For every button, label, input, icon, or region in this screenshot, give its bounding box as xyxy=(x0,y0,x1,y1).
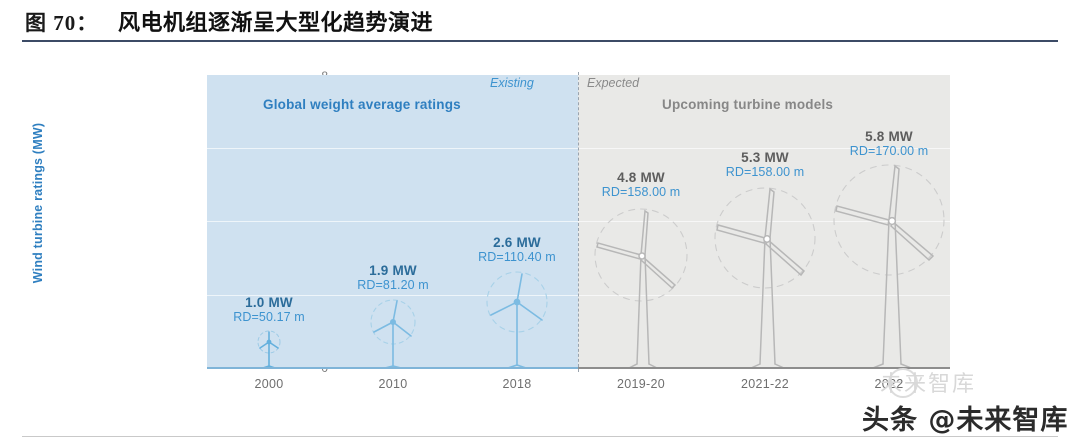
turbine-group-2019-20: 4.8 MW RD=158.00 m xyxy=(579,170,703,368)
x-axis-line-existing xyxy=(207,367,578,369)
footer-divider xyxy=(22,436,1058,437)
turbine-rating-2000: 1.0 MW xyxy=(207,295,331,311)
turbine-rotor-2018: RD=110.40 m xyxy=(455,250,579,266)
zone-heading-existing: Global weight average ratings xyxy=(263,97,461,112)
turbine-group-2022: 5.8 MW RD=170.00 m xyxy=(827,129,951,368)
wind-turbine-icon-2018 xyxy=(455,268,579,368)
turbine-rotor-2010: RD=81.20 m xyxy=(331,278,455,294)
wind-turbine-icon-2019-20 xyxy=(579,203,703,368)
wind-turbine-icon-2010 xyxy=(331,296,455,368)
wind-turbine-icon-2021-22 xyxy=(703,183,827,368)
turbine-rotor-2022: RD=170.00 m xyxy=(827,144,951,160)
turbine-group-2000: 1.0 MW RD=50.17 m xyxy=(207,295,331,368)
plot-area: Global weight average ratings Upcoming t… xyxy=(207,75,950,368)
watermark-main: 头条 @未来智库 xyxy=(862,398,1068,437)
turbine-rotor-2019-20: RD=158.00 m xyxy=(579,185,703,201)
turbine-rotor-2000: RD=50.17 m xyxy=(207,310,331,326)
x-tick-2021-22: 2021-22 xyxy=(705,377,825,391)
turbine-rotor-2021-22: RD=158.00 m xyxy=(703,165,827,181)
x-tick-2018: 2018 xyxy=(457,377,577,391)
x-tick-2000: 2000 xyxy=(209,377,329,391)
turbine-rating-2019-20: 4.8 MW xyxy=(579,170,703,186)
figure-title: 风电机组逐渐呈大型化趋势演进 xyxy=(118,5,433,37)
header-divider xyxy=(22,40,1058,42)
watermark-faint: 未来智库 xyxy=(880,366,976,398)
turbine-group-2010: 1.9 MW RD=81.20 m xyxy=(331,263,455,368)
zone-heading-expected: Upcoming turbine models xyxy=(662,97,833,112)
turbine-rating-2022: 5.8 MW xyxy=(827,129,951,145)
figure-number: 图 70： xyxy=(25,7,98,37)
turbine-rating-2021-22: 5.3 MW xyxy=(703,150,827,166)
x-tick-2010: 2010 xyxy=(333,377,453,391)
turbine-group-2021-22: 5.3 MW RD=158.00 m xyxy=(703,150,827,368)
wind-turbine-icon-2022 xyxy=(827,162,951,368)
x-tick-2019-20: 2019-20 xyxy=(581,377,701,391)
wind-turbine-icon-2000 xyxy=(207,328,331,368)
zone-flag-existing: Existing xyxy=(490,76,534,90)
y-axis-title: Wind turbine ratings (MW) xyxy=(31,93,45,313)
zone-flag-expected: Expected xyxy=(587,76,639,90)
chart-container: Wind turbine ratings (MW) 8 6 4 2 0 Glob… xyxy=(0,48,1080,413)
turbine-rating-2010: 1.9 MW xyxy=(331,263,455,279)
figure-header: 图 70： 风电机组逐渐呈大型化趋势演进 xyxy=(0,0,1080,44)
turbine-rating-2018: 2.6 MW xyxy=(455,235,579,251)
turbine-group-2018: 2.6 MW RD=110.40 m xyxy=(455,235,579,368)
